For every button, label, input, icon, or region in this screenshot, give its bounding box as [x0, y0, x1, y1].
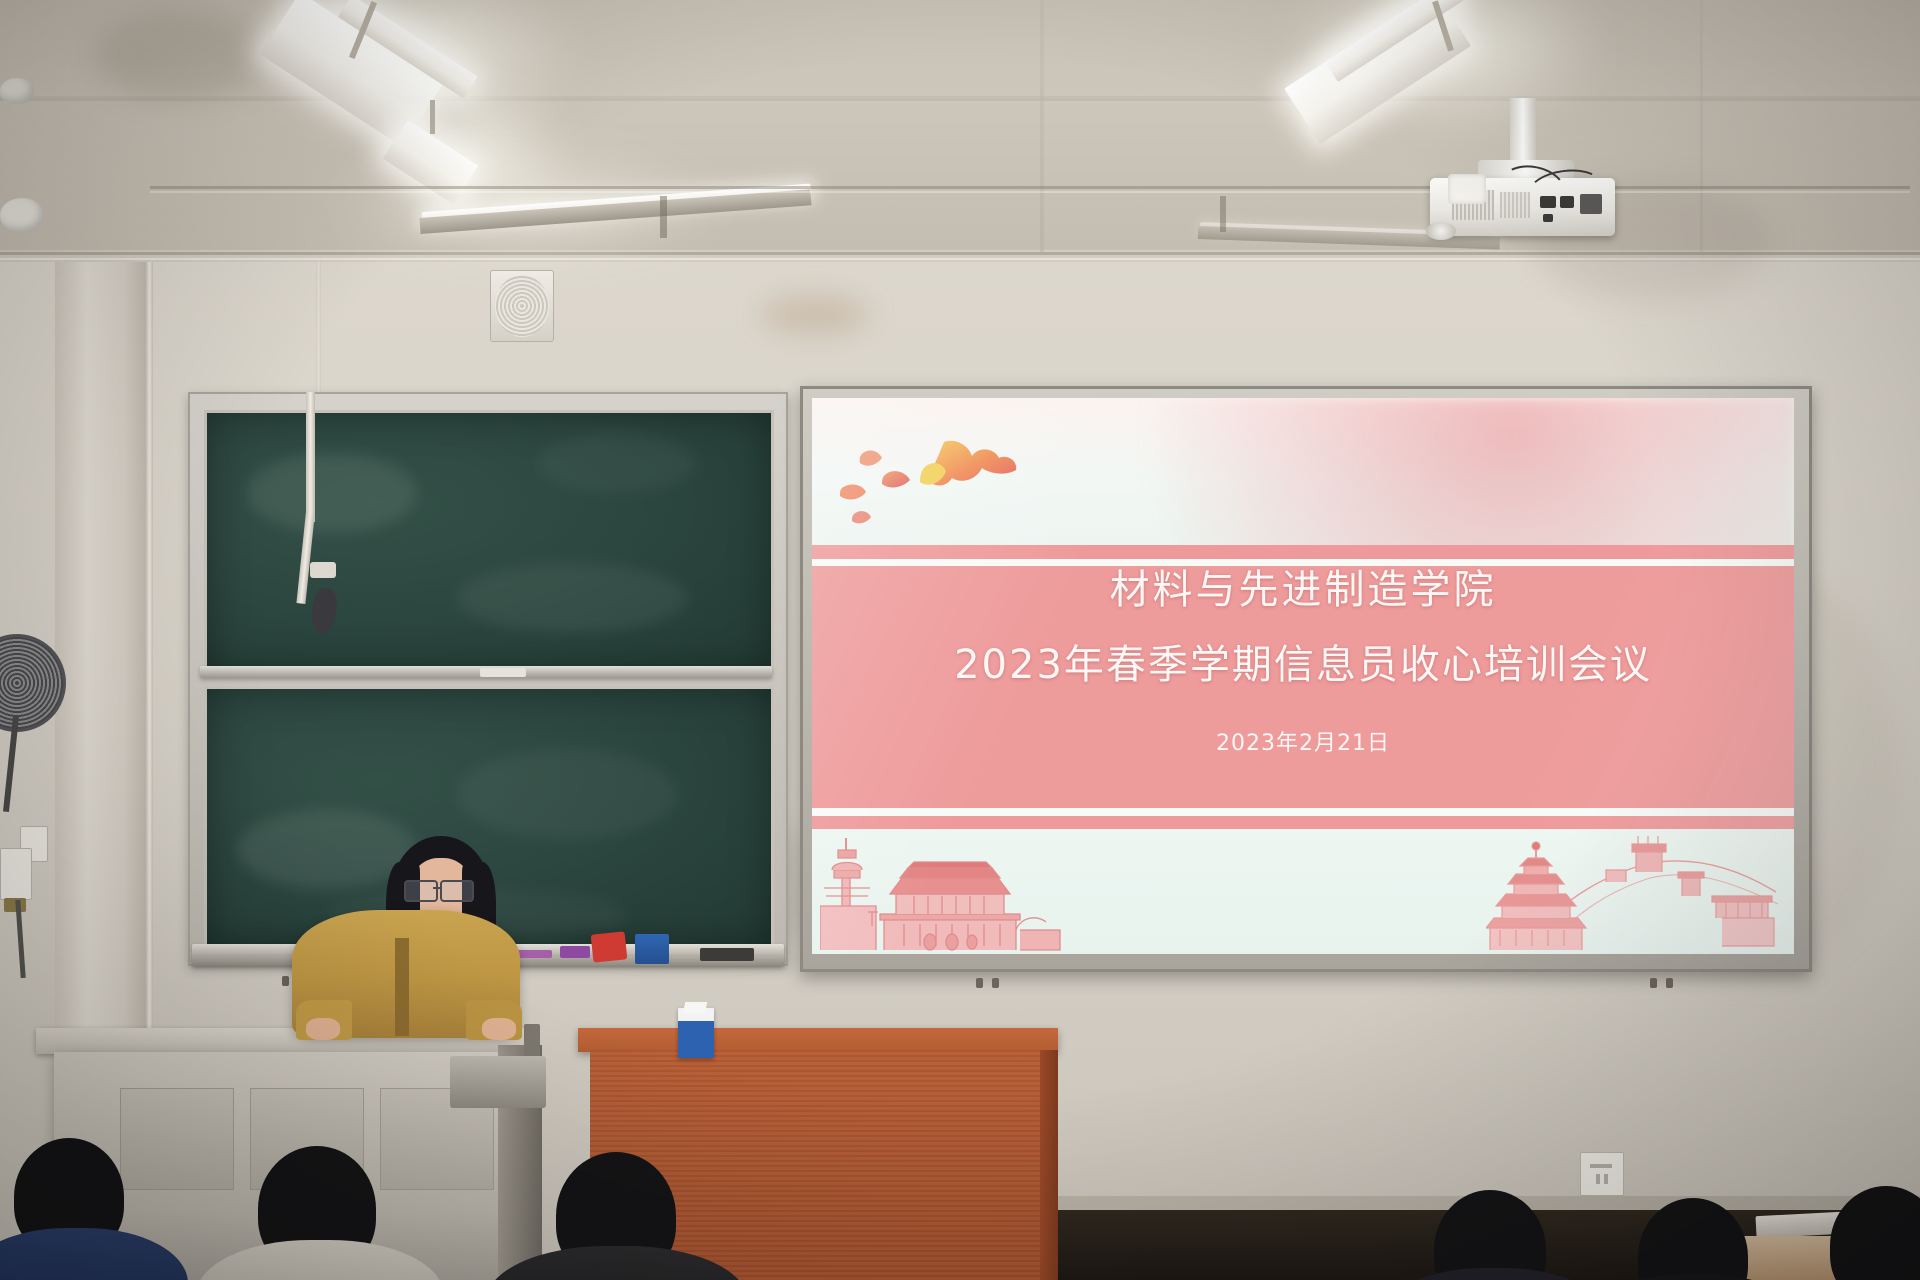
- coat-zipper: [395, 938, 409, 1036]
- screen-mount-screw: [992, 978, 999, 988]
- lectern-panel: [120, 1088, 234, 1190]
- slide-title-line1: 材料与先进制造学院: [812, 567, 1794, 613]
- security-camera: [0, 78, 34, 104]
- slide-divider-gap: [812, 808, 1794, 816]
- chalk-bag[interactable]: [591, 931, 628, 962]
- ceiling-beam-vertical: [1040, 0, 1044, 252]
- slide-divider-gap: [812, 559, 1794, 566]
- lectern-control-box[interactable]: [450, 1056, 546, 1108]
- wall-conduit-drop: [660, 196, 667, 238]
- light-switch-panel[interactable]: [0, 848, 32, 900]
- light-bracket: [430, 100, 435, 134]
- outlet-slot: [1604, 1174, 1608, 1184]
- projector-mount-arm: [1448, 174, 1486, 204]
- wall-stain: [95, 10, 265, 100]
- teacher-desk-top: [578, 1028, 1058, 1052]
- projector-port: [1543, 214, 1553, 222]
- teacher-desk-side: [1040, 1050, 1058, 1280]
- wall-conduit-drop: [1220, 196, 1226, 232]
- paper-sheet[interactable]: [1755, 1212, 1842, 1238]
- microphone-boom: [306, 392, 315, 522]
- chalk-box[interactable]: [635, 934, 669, 964]
- wall-stain: [760, 295, 870, 335]
- power-outlet[interactable]: [1580, 1152, 1624, 1196]
- outlet-slot: [1596, 1174, 1600, 1184]
- chalkboard-upper: [204, 410, 774, 676]
- presenter-hand: [482, 1018, 516, 1040]
- wall-vent: [490, 270, 554, 342]
- security-camera: [0, 198, 44, 232]
- slide-divider-bar: [812, 816, 1794, 829]
- screen-mount-screw: [1666, 978, 1673, 988]
- screen-mount-screw: [976, 978, 983, 988]
- projector-lens: [1426, 222, 1456, 240]
- chalk-smudge: [457, 749, 677, 839]
- great-wall-temple-icon: [1486, 834, 1786, 952]
- vent-grill-icon: [495, 275, 549, 337]
- outlet-slot: [1590, 1164, 1612, 1168]
- board-eraser[interactable]: [700, 948, 754, 961]
- slide-divider-bar: [812, 545, 1794, 558]
- chalk-smudge: [247, 453, 417, 533]
- wall-conduit: [150, 186, 1910, 189]
- classroom-scene: 材料与先进制造学院 2023年春季学期信息员收心培训会议 2023年2月21日: [0, 0, 1920, 1280]
- wall-conduit-highlight: [150, 191, 1910, 193]
- slide-title-line2: 2023年春季学期信息员收心培训会议: [812, 642, 1794, 688]
- chalk-smudge: [537, 433, 697, 493]
- tissue-sheet: [683, 1002, 708, 1014]
- flying-birds-icon: [836, 436, 1036, 532]
- board-mount-screw: [282, 976, 289, 986]
- chalkboard-handle[interactable]: [480, 668, 526, 677]
- slide-date: 2023年2月21日: [812, 725, 1794, 757]
- presenter-glasses: [440, 880, 474, 902]
- glasses-bridge: [433, 887, 442, 889]
- projector-mount-pole: [1510, 98, 1536, 168]
- chalk-marker[interactable]: [560, 946, 590, 958]
- chalk-smudge: [457, 563, 687, 633]
- microphone-clamp: [310, 562, 336, 578]
- tissue-box[interactable]: [678, 1008, 714, 1058]
- screen-mount-screw: [1650, 978, 1657, 988]
- tiananmen-gate-icon: [820, 834, 1080, 952]
- presenter-hand: [306, 1018, 340, 1040]
- presenter-glasses: [404, 880, 438, 902]
- projected-slide: 材料与先进制造学院 2023年春季学期信息员收心培训会议 2023年2月21日: [812, 398, 1794, 954]
